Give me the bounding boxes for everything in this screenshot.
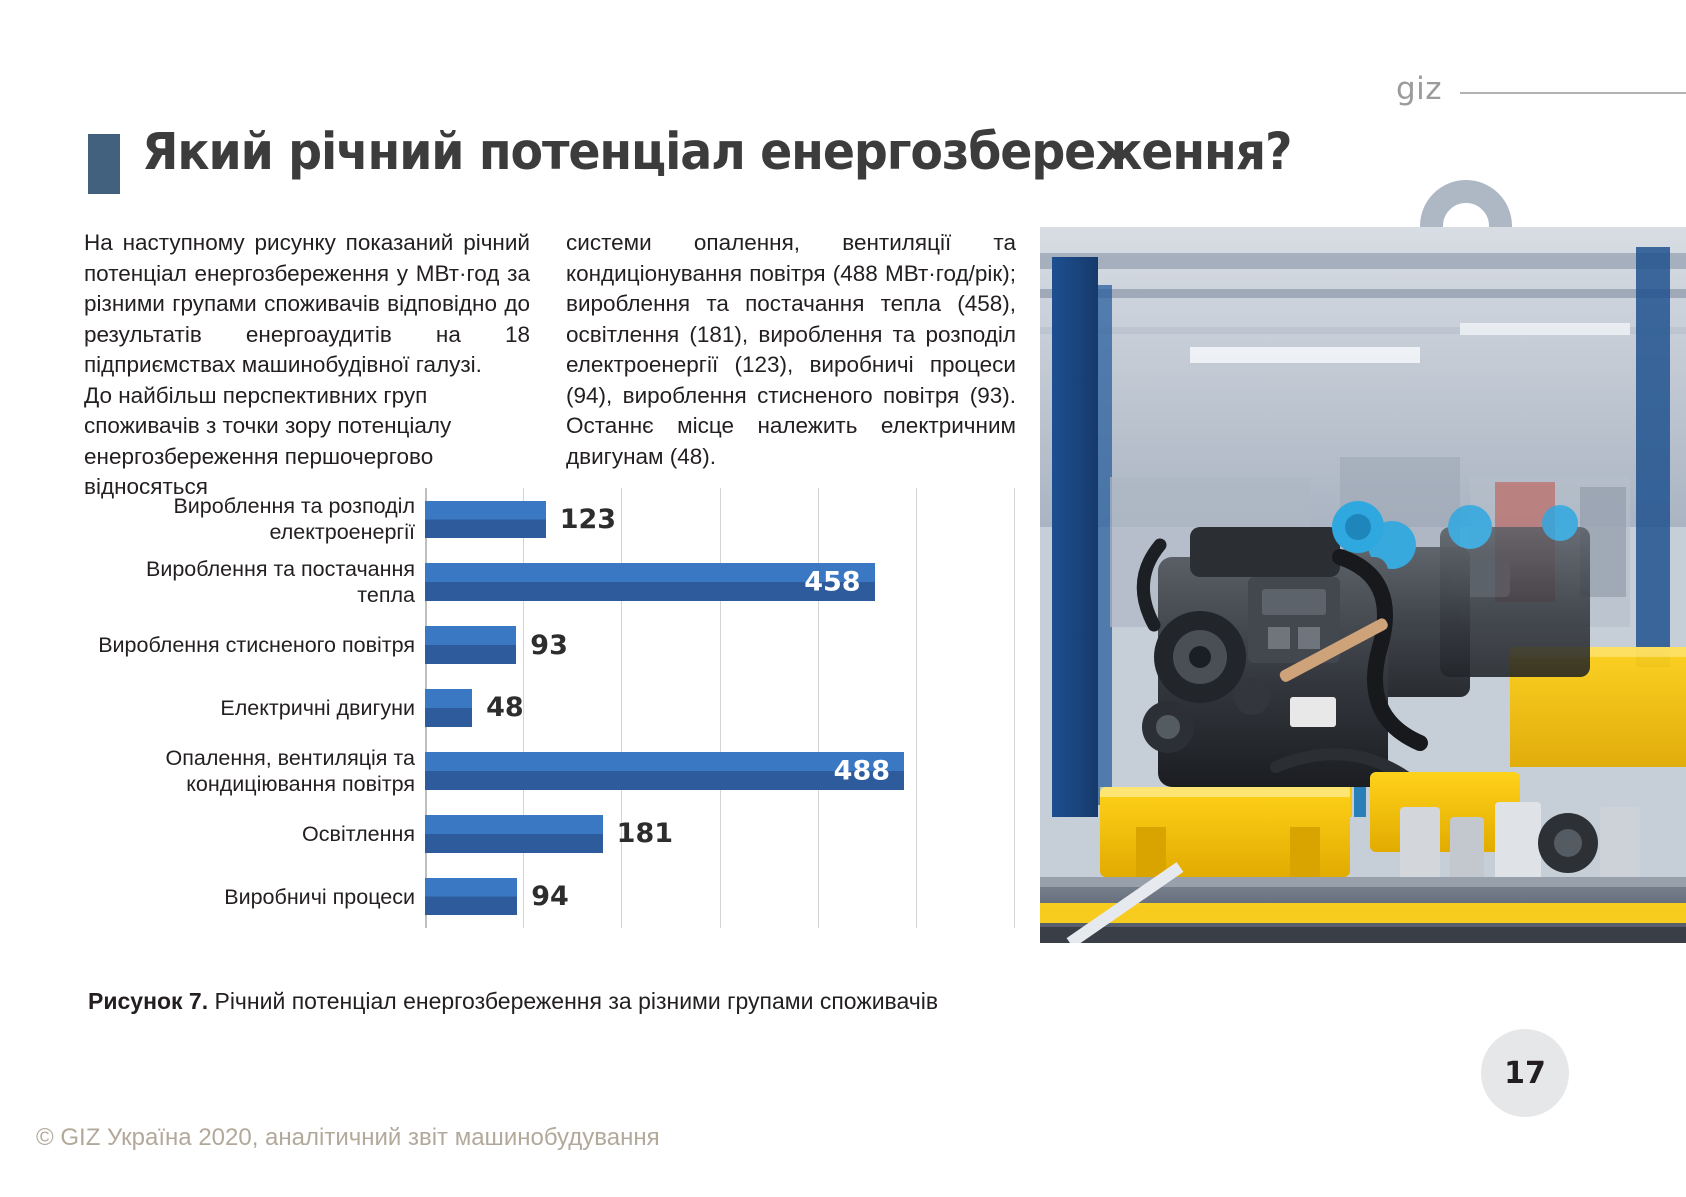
page-title-text: Який річний потенціал енергозбереження? <box>142 126 1291 180</box>
chart-bar-row: Опалення, вентиляція та кондиціювання по… <box>425 752 1014 790</box>
factory-photo-image <box>1040 227 1686 943</box>
chart-bar-value: 94 <box>531 881 569 912</box>
chart-bar-row: Освітлення181 <box>425 815 1014 853</box>
chart-category-label: Вироблення та постачання тепла <box>89 556 425 608</box>
chart-bar-row: Вироблення та постачання тепла458 <box>425 563 1014 601</box>
paragraph: До найбільш перспективних груп споживачі… <box>84 381 530 503</box>
chart-bar-row: Виробничі процеси94 <box>425 878 1014 916</box>
chart-category-label: Вироблення та розподіл електроенергії <box>89 493 425 545</box>
giz-logo: giz <box>1396 74 1442 105</box>
giz-logo-rule <box>1460 92 1686 94</box>
chart-bar-value: 48 <box>486 692 524 723</box>
chart-bar: 458 <box>425 563 875 601</box>
chart-plot-area: Вироблення та розподіл електроенергії123… <box>425 488 1014 928</box>
chart-category-label: Виробничі процеси <box>89 884 425 910</box>
chart-bar <box>425 501 546 539</box>
chart-category-label: Вироблення стисненого повітря <box>89 632 425 658</box>
chart-bar <box>425 815 603 853</box>
paragraph: На наступному рисунку показаний річний п… <box>84 228 530 381</box>
chart-bar-value: 93 <box>530 630 568 661</box>
chart-bar-value: 458 <box>804 567 860 598</box>
figure-caption: Рисунок 7. Річний потенціал енергозбереж… <box>88 986 1028 1016</box>
chart-bar: 488 <box>425 752 904 790</box>
chart-bar <box>425 878 517 916</box>
chart-bar-row: Електричні двигуни48 <box>425 689 1014 727</box>
page-title: Який річний потенціал енергозбереження? <box>88 126 1378 194</box>
chart-bar-value: 123 <box>560 504 616 535</box>
chart-bar-value: 181 <box>617 818 673 849</box>
chart-bar <box>425 626 516 664</box>
body-left-column: На наступному рисунку показаний річний п… <box>84 228 530 503</box>
title-accent-square-icon <box>88 134 120 194</box>
page-number-badge: 17 <box>1481 1029 1569 1117</box>
chart-bar-row: Вироблення та розподіл електроенергії123 <box>425 501 1014 539</box>
chart-category-label: Опалення, вентиляція та кондиціювання по… <box>89 745 425 797</box>
figure-caption-text: Річний потенціал енергозбереження за різ… <box>208 988 938 1014</box>
chart-bar-row: Вироблення стисненого повітря93 <box>425 626 1014 664</box>
chart-category-label: Електричні двигуни <box>89 695 425 721</box>
chart-bar-value: 488 <box>834 755 890 786</box>
chart-bar <box>425 689 472 727</box>
chart-bar-rows: Вироблення та розподіл електроенергії123… <box>425 488 1014 928</box>
factory-photo <box>1040 227 1686 943</box>
body-right-column: системи опалення, вентиляції та кондиціо… <box>566 228 1016 472</box>
paragraph: системи опалення, вентиляції та кондиціо… <box>566 228 1016 472</box>
energy-savings-bar-chart: Вироблення та розподіл електроенергії123… <box>84 488 1014 928</box>
figure-caption-label: Рисунок 7. <box>88 988 208 1014</box>
footer-copyright: © GIZ Україна 2020, аналітичний звіт маш… <box>36 1124 660 1152</box>
chart-gridline <box>1014 488 1015 928</box>
report-page: giz Який річний потенціал енергозбережен… <box>0 0 1686 1197</box>
chart-category-label: Освітлення <box>89 821 425 847</box>
